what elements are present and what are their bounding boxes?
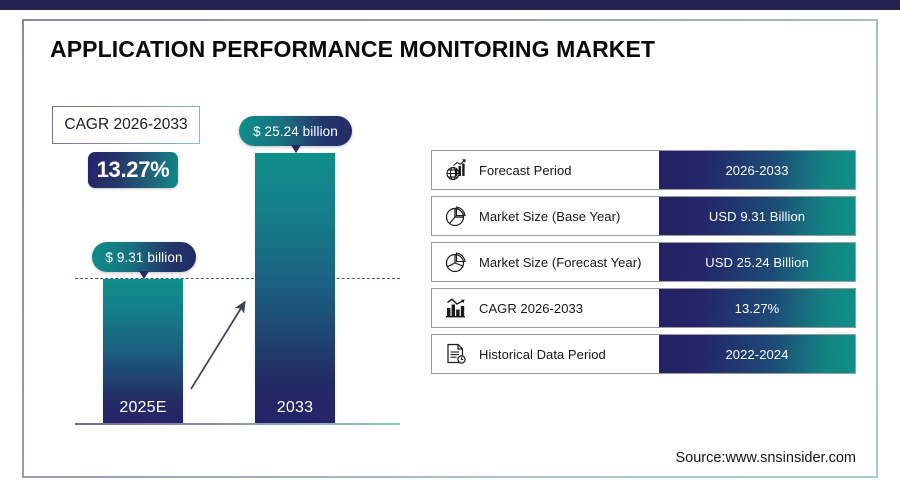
spec-row-label: Market Size (Forecast Year) bbox=[479, 255, 641, 270]
spec-table: Forecast Period 2026-2033 bbox=[431, 150, 856, 380]
bar-chart: 2025E 2033 $ 9.31 billion $ 25.24 billio… bbox=[60, 100, 400, 430]
page-title: APPLICATION PERFORMANCE MONITORING MARKE… bbox=[50, 36, 810, 63]
bar-label-2025e: 2025E bbox=[103, 399, 183, 417]
table-row: CAGR 2026-2033 13.27% bbox=[431, 288, 856, 328]
bar-label-2033: 2033 bbox=[255, 399, 335, 417]
spec-row-right: 2026-2033 bbox=[659, 151, 855, 189]
spec-row-label: CAGR 2026-2033 bbox=[479, 301, 583, 316]
spec-row-right: USD 9.31 Billion bbox=[659, 197, 855, 235]
spec-row-right: 2022-2024 bbox=[659, 335, 855, 373]
value-bubble-2025e: $ 9.31 billion bbox=[92, 242, 196, 272]
spec-row-left: CAGR 2026-2033 bbox=[432, 289, 659, 327]
table-row: Forecast Period 2026-2033 bbox=[431, 150, 856, 190]
spec-row-label: Forecast Period bbox=[479, 163, 572, 178]
table-row: Historical Data Period 2022-2024 bbox=[431, 334, 856, 374]
bar-trend-icon bbox=[441, 293, 471, 323]
growth-arrow-icon bbox=[185, 295, 255, 395]
spec-row-value: USD 25.24 Billion bbox=[705, 255, 809, 270]
spec-row-left: Historical Data Period bbox=[432, 335, 659, 373]
spec-row-label: Historical Data Period bbox=[479, 347, 606, 362]
spec-row-left: Forecast Period bbox=[432, 151, 659, 189]
spec-row-value: 2026-2033 bbox=[725, 163, 788, 178]
bar-2025e: 2025E bbox=[103, 279, 183, 423]
table-row: Market Size (Forecast Year) USD 25.24 Bi… bbox=[431, 242, 856, 282]
globe-chart-icon bbox=[441, 155, 471, 185]
spec-row-value: 13.27% bbox=[735, 301, 780, 316]
spec-row-right: 13.27% bbox=[659, 289, 855, 327]
pie-chart-alt-icon bbox=[441, 247, 471, 277]
chart-baseline bbox=[75, 423, 400, 425]
value-bubble-2033: $ 25.24 billion bbox=[239, 116, 352, 146]
bar-2033: 2033 bbox=[255, 153, 335, 423]
spec-row-value: 2022-2024 bbox=[725, 347, 788, 362]
document-clock-icon bbox=[441, 339, 471, 369]
value-bubble-2033-text: $ 25.24 billion bbox=[253, 124, 338, 139]
table-row: Market Size (Base Year) USD 9.31 Billion bbox=[431, 196, 856, 236]
spec-row-label: Market Size (Base Year) bbox=[479, 209, 620, 224]
spec-row-right: USD 25.24 Billion bbox=[659, 243, 855, 281]
pie-chart-icon bbox=[441, 201, 471, 231]
top-accent-bar bbox=[0, 0, 900, 10]
value-bubble-2025e-text: $ 9.31 billion bbox=[105, 250, 182, 265]
source-attribution: Source:www.snsinsider.com bbox=[675, 450, 856, 466]
spec-row-left: Market Size (Forecast Year) bbox=[432, 243, 659, 281]
spec-row-left: Market Size (Base Year) bbox=[432, 197, 659, 235]
spec-row-value: USD 9.31 Billion bbox=[709, 209, 805, 224]
